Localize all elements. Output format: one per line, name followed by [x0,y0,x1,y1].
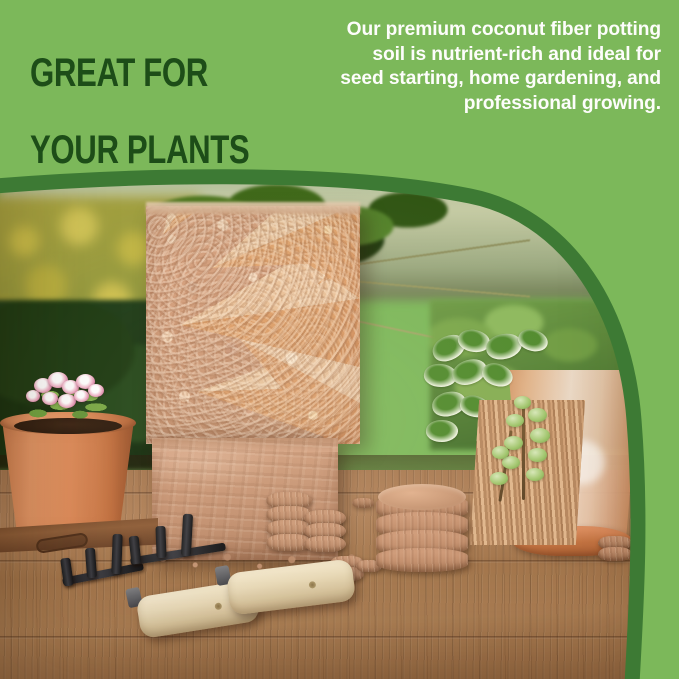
banner-header: GREAT FOR YOUR PLANTS Our premium coconu… [0,0,679,176]
banner-description: Our premium coconut fiber potting soil i… [331,18,661,116]
plank-seam [0,636,679,639]
page-title: GREAT FOR YOUR PLANTS [30,16,264,208]
large-coir-brick [146,206,360,444]
infographic-banner: GREAT FOR YOUR PLANTS Our premium coconu… [0,0,679,679]
succulent [478,388,588,503]
headline-line-2: YOUR PLANTS [30,131,264,169]
coir-fiber-noise [146,206,360,444]
headline-line-1: GREAT FOR [30,54,264,92]
